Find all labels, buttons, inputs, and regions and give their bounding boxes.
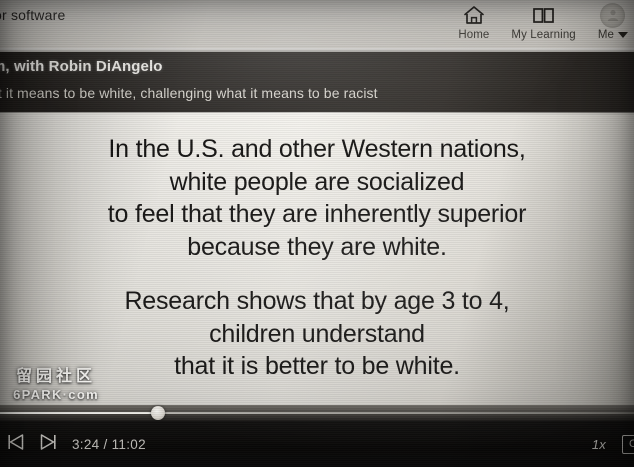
closed-captions-button[interactable]: C [622, 435, 634, 454]
breadcrumb: or software [0, 7, 65, 23]
nav-item-home[interactable]: Home [458, 2, 489, 41]
nav-item-my-learning[interactable]: My Learning [511, 2, 575, 41]
nav-item-account-label: Me [598, 29, 614, 41]
slide-paragraph-1: In the U.S. and other Western nations, w… [0, 133, 634, 263]
skip-next-icon [38, 433, 58, 456]
next-button[interactable] [32, 429, 64, 459]
watermark-chinese: 留园社区 [8, 369, 104, 386]
site-top-bar: or software Home [0, 0, 634, 52]
slide-line: In the U.S. and other Western nations, [10, 133, 624, 166]
watermark: 留园社区 6PARK·com [8, 369, 104, 402]
slide-line: to feel that they are inherently superio… [10, 198, 624, 231]
slide-line: Research shows that by age 3 to 4, [10, 285, 624, 318]
slide-line: children understand [10, 318, 624, 351]
avatar-person-icon [600, 3, 625, 28]
progress-handle[interactable] [151, 406, 165, 420]
previous-button[interactable] [0, 429, 32, 459]
player-control-bar: 3:24 / 11:02 1x C [0, 421, 634, 467]
course-subtitle: at it means to be white, challenging wha… [0, 85, 378, 101]
primary-nav: Home My Learning [458, 2, 628, 41]
playback-speed-button[interactable]: 1x [592, 437, 606, 452]
time-display: 3:24 / 11:02 [72, 437, 146, 452]
watermark-latin: 6PARK·com [8, 387, 104, 402]
account-menu-row[interactable]: Me [598, 28, 628, 41]
video-slide-area[interactable]: In the U.S. and other Western nations, w… [0, 113, 634, 405]
nav-item-account[interactable]: Me [598, 2, 628, 41]
slide-line: because they are white. [10, 231, 624, 264]
nav-item-my-learning-label: My Learning [511, 29, 575, 41]
progress-scrubber[interactable] [0, 405, 634, 421]
chevron-down-icon[interactable] [618, 32, 628, 38]
course-title: m, with Robin DiAngelo [0, 58, 163, 75]
home-icon [463, 2, 485, 28]
nav-item-home-label: Home [458, 29, 489, 41]
open-book-icon [532, 2, 555, 28]
progress-played [0, 412, 158, 414]
course-header: m, with Robin DiAngelo at it means to be… [0, 52, 634, 113]
avatar [600, 2, 625, 28]
video-player-screen: or software Home [0, 0, 634, 467]
slide-text-block: In the U.S. and other Western nations, w… [0, 133, 634, 383]
skip-previous-icon [6, 433, 26, 456]
slide-line: white people are socialized [10, 166, 624, 199]
